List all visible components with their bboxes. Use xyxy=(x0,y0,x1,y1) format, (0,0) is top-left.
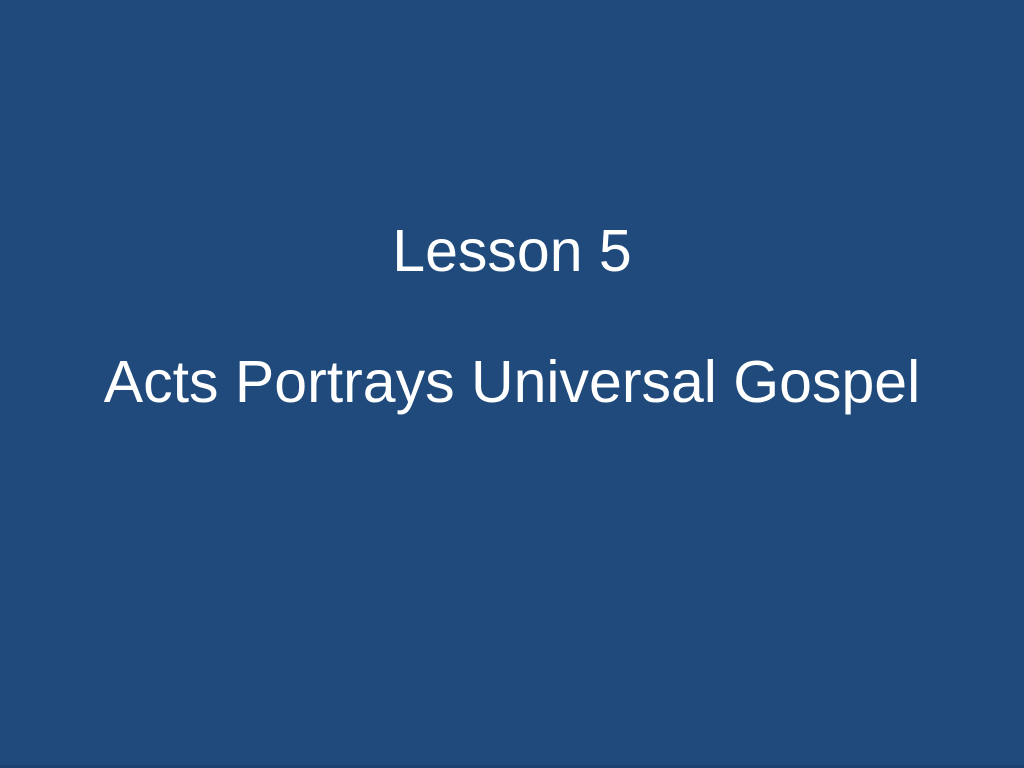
slide-title-line-2: Acts Portrays Universal Gospel xyxy=(0,345,1024,419)
presentation-slide: Lesson 5 Acts Portrays Universal Gospel xyxy=(0,0,1024,768)
slide-title-spacer xyxy=(0,288,1024,345)
slide-title-block: Lesson 5 Acts Portrays Universal Gospel xyxy=(0,0,1024,419)
slide-title-line-1: Lesson 5 xyxy=(0,214,1024,288)
